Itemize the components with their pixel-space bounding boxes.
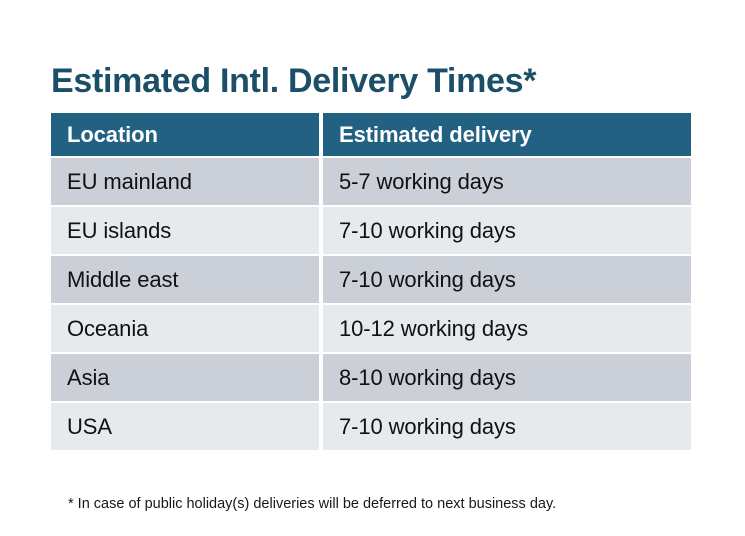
- cell-estimated-delivery: 5-7 working days: [319, 156, 691, 205]
- cell-estimated-delivery: 10-12 working days: [319, 303, 691, 352]
- table-row: Oceania 10-12 working days: [51, 303, 691, 352]
- cell-location: Oceania: [51, 303, 319, 352]
- delivery-times-table: Location Estimated delivery EU mainland …: [51, 113, 691, 450]
- column-header-estimated-delivery: Estimated delivery: [319, 113, 691, 156]
- table-row: USA 7-10 working days: [51, 401, 691, 450]
- cell-estimated-delivery: 7-10 working days: [319, 401, 691, 450]
- table-header: Location Estimated delivery: [51, 113, 691, 156]
- cell-location: Middle east: [51, 254, 319, 303]
- cell-estimated-delivery: 8-10 working days: [319, 352, 691, 401]
- table-body: EU mainland 5-7 working days EU islands …: [51, 156, 691, 450]
- table-row: EU mainland 5-7 working days: [51, 156, 691, 205]
- cell-location: Asia: [51, 352, 319, 401]
- cell-location: EU mainland: [51, 156, 319, 205]
- cell-location: USA: [51, 401, 319, 450]
- table-row: EU islands 7-10 working days: [51, 205, 691, 254]
- table-row: Asia 8-10 working days: [51, 352, 691, 401]
- cell-estimated-delivery: 7-10 working days: [319, 254, 691, 303]
- table-header-row: Location Estimated delivery: [51, 113, 691, 156]
- cell-estimated-delivery: 7-10 working days: [319, 205, 691, 254]
- delivery-times-page: Estimated Intl. Delivery Times* Location…: [0, 0, 745, 536]
- page-title: Estimated Intl. Delivery Times*: [51, 59, 536, 103]
- table-row: Middle east 7-10 working days: [51, 254, 691, 303]
- cell-location: EU islands: [51, 205, 319, 254]
- footnote-text: * In case of public holiday(s) deliverie…: [68, 494, 556, 514]
- column-header-location: Location: [51, 113, 319, 156]
